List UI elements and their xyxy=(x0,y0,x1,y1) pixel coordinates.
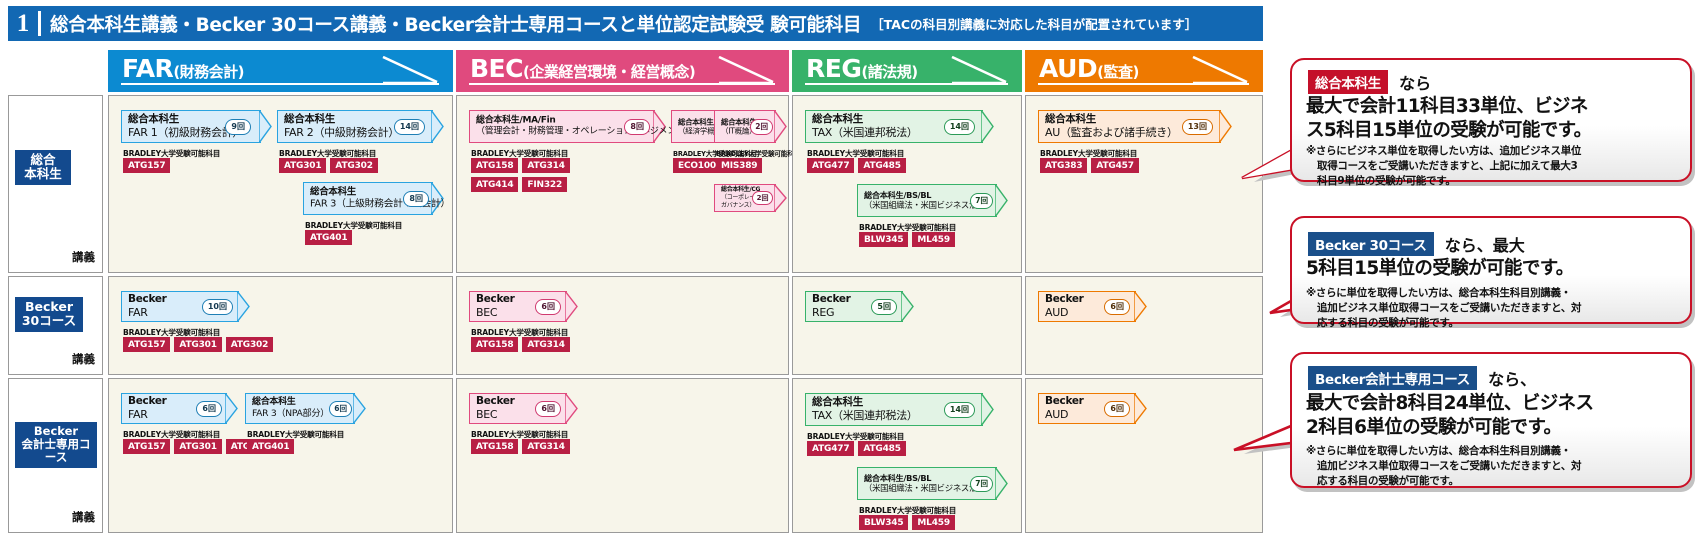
poster-root: 1 総合本科生講義・Becker 30コース講義・Becker会計士専用コースと… xyxy=(0,0,1707,539)
code-chip: BLW345 xyxy=(859,232,908,247)
code-chip: ATG301 xyxy=(279,158,326,173)
course-line1: 総合本科生/MA/Fin xyxy=(476,115,556,125)
course-r2-far[interactable]: BeckerFAR 10回 xyxy=(121,291,251,322)
course-count: 2回 xyxy=(752,191,773,205)
course-r2-bec[interactable]: BeckerBEC 6回 xyxy=(469,291,579,322)
course-line2: FAR 2（中級財務会計） xyxy=(284,126,399,139)
callout-main-line1: 最大で会計8科目24単位、ビジネス xyxy=(1306,392,1593,416)
callout-note-line3: 科目9単位の受験が可能です。 xyxy=(1306,174,1581,189)
col-sub-bec: (企業経営環境・経営概念) xyxy=(523,63,695,81)
course-count: 6回 xyxy=(1104,299,1130,315)
code-chip: FIN322 xyxy=(522,177,567,192)
code-chip: ATG383 xyxy=(1040,158,1087,173)
cell-r3-far: BeckerFAR 6回 BRADLEY大学受験可能科目 ATG157 ATG3… xyxy=(108,378,453,533)
course-count: 14回 xyxy=(944,402,975,418)
cell-r1-far: 総合本科生FAR 1（初級財務会計） 9回 BRADLEY大学受験可能科目 AT… xyxy=(108,95,453,273)
cell-r1-reg: 総合本科生TAX（米国連邦税法） 14回 BRADLEY大学受験可能科目 ATG… xyxy=(792,95,1022,273)
course-line1: Becker xyxy=(1045,292,1084,304)
course-line1: 総合本科生/BS/BL xyxy=(864,190,931,200)
callout-note-line1: ※さらに単位を取得したい方は、総合本科生科目別講義・ xyxy=(1306,444,1581,459)
course-r1-far-3[interactable]: 総合本科生FAR 3（上級財務会計＋公会計） 8回 xyxy=(303,182,445,215)
row-suffix-sogo: 講義 xyxy=(72,249,95,265)
col-sub-far: (財務会計) xyxy=(173,63,244,81)
code-chip: ATG302 xyxy=(330,158,377,173)
section-title-bar: 1 総合本科生講義・Becker 30コース講義・Becker会計士専用コースと… xyxy=(8,6,1263,41)
course-count: 8回 xyxy=(624,119,650,135)
column-header-far: FAR(財務会計) xyxy=(108,50,453,92)
course-line2: TAX（米国連邦税法） xyxy=(812,409,918,422)
code-chip: ATG401 xyxy=(305,230,352,245)
course-line2: TAX（米国連邦税法） xyxy=(812,126,918,139)
cell-r2-aud: BeckerAUD 6回 xyxy=(1025,276,1263,375)
callout-becker-cpa: Becker会計士専用コース なら、 最大で会計8科目24単位、ビジネス 2科目… xyxy=(1290,352,1692,488)
callout-main-line1: 5科目15単位の受験が可能です。 xyxy=(1306,257,1574,281)
decor-slash-icon xyxy=(950,56,1010,86)
course-line2: AUD xyxy=(1045,408,1068,421)
code-chip: ATG301 xyxy=(174,439,221,454)
course-line2: BEC xyxy=(476,306,497,319)
callout-head: Becker 30コース なら、最大 xyxy=(1308,232,1525,256)
course-line2: FAR xyxy=(128,306,148,319)
col-code-bec: BEC xyxy=(470,54,523,83)
course-line1: Becker xyxy=(128,394,167,406)
code-chip: ATG157 xyxy=(123,158,170,173)
callout-badge: Becker 30コース xyxy=(1308,232,1434,256)
cell-r3-aud: BeckerAUD 6回 xyxy=(1025,378,1263,533)
callout-nara: なら、 xyxy=(1488,370,1536,389)
row-badge-becker-cpa: Becker会計士専用コース xyxy=(15,422,97,468)
code-chip: ML459 xyxy=(912,515,954,530)
course-r1-bec-1[interactable]: 総合本科生/MA/Fin（管理会計・財務管理・オペレーションマネジメント） 8回 xyxy=(469,110,667,143)
course-count: 7回 xyxy=(970,476,993,492)
row-suffix-becker-cpa: 講義 xyxy=(72,509,95,525)
course-line1: Becker xyxy=(128,292,167,304)
course-line2: （管理会計・財務管理・オペレーションマネジメント） xyxy=(476,127,693,137)
col-code-reg: REG xyxy=(806,54,861,83)
course-line1: Becker xyxy=(812,292,851,304)
callout-main-line2: ス5科目15単位の受験が可能です。 xyxy=(1306,119,1592,143)
course-count: 14回 xyxy=(394,119,425,135)
row-label-becker30: Becker30コース 講義 xyxy=(8,276,103,375)
code-chip: ATG157 xyxy=(123,337,170,352)
course-r3-reg-2[interactable]: 総合本科生/BS/BL（米国組織法・米国ビジネス法） 7回 xyxy=(857,467,1009,500)
callout-becker30: Becker 30コース なら、最大 5科目15単位の受験が可能です。 ※さらに… xyxy=(1290,216,1692,324)
code-chip: ATG157 xyxy=(123,439,170,454)
course-line2: REG xyxy=(812,306,834,319)
course-r3-far-1[interactable]: BeckerFAR 6回 xyxy=(121,393,239,424)
decor-slash-icon xyxy=(1191,56,1251,86)
code-chip: ATG158 xyxy=(471,337,518,352)
course-line2: FAR 3（NPA部分） xyxy=(252,408,329,419)
row-label-becker-cpa: Becker会計士専用コース 講義 xyxy=(8,378,103,533)
course-line1: 総合本科生 xyxy=(284,112,335,124)
course-r3-far-2[interactable]: 総合本科生FAR 3（NPA部分） 6回 xyxy=(245,393,367,424)
code-chip: ECO100 xyxy=(673,158,721,173)
course-r3-aud[interactable]: BeckerAUD 6回 xyxy=(1038,393,1148,424)
course-r3-reg-1[interactable]: 総合本科生TAX（米国連邦税法） 14回 xyxy=(805,393,995,426)
course-r1-far-1[interactable]: 総合本科生FAR 1（初級財務会計） 9回 xyxy=(121,110,273,143)
bradley-caption: BRADLEY大学受験可能科目 xyxy=(716,148,800,158)
course-line2: AU（監査および諸手続き） xyxy=(1045,126,1178,139)
title-note: ［TACの科目別講義に対応した科目が配置されています］ xyxy=(871,14,1197,33)
callout-badge: Becker会計士専用コース xyxy=(1308,366,1477,390)
course-grid: FAR(財務会計) BEC(企業経営環境・経営概念) REG(諸法規) AUD(… xyxy=(8,50,1263,533)
decor-slash-icon xyxy=(381,56,441,86)
code-chip: ATG485 xyxy=(858,441,905,456)
cell-r1-bec: 総合本科生/MA/Fin（管理会計・財務管理・オペレーションマネジメント） 8回… xyxy=(456,95,789,273)
course-line2: BEC xyxy=(476,408,497,421)
course-r2-reg[interactable]: BeckerREG 5回 xyxy=(805,291,915,322)
course-count: 9回 xyxy=(225,119,251,135)
cell-r3-reg: 総合本科生TAX（米国連邦税法） 14回 BRADLEY大学受験可能科目 ATG… xyxy=(792,378,1022,533)
course-line1: Becker xyxy=(476,394,515,406)
col-code-aud: AUD xyxy=(1039,54,1097,83)
code-chip: ATG485 xyxy=(858,158,905,173)
cell-r2-reg: BeckerREG 5回 xyxy=(792,276,1022,375)
code-chip: ATG477 xyxy=(807,441,854,456)
course-count: 7回 xyxy=(970,193,993,209)
callout-head: 総合本科生 なら xyxy=(1308,70,1431,94)
code-chip: ATG314 xyxy=(522,158,569,173)
callout-nara: なら、最大 xyxy=(1445,236,1525,255)
course-count: 2回 xyxy=(750,119,773,135)
section-number: 1 xyxy=(8,6,38,41)
course-count: 6回 xyxy=(196,401,222,417)
course-line1: 総合本科生 xyxy=(252,396,296,406)
page-title: 総合本科生講義・Becker 30コース講義・Becker会計士専用コースと単位… xyxy=(50,11,861,37)
course-count: 13回 xyxy=(1182,119,1213,135)
cell-r3-bec: BeckerBEC 6回 BRADLEY大学受験可能科目 ATG158 ATG3… xyxy=(456,378,789,533)
row-badge-sogo: 総合本科生 xyxy=(15,150,71,185)
code-chip: ATG401 xyxy=(247,439,294,454)
callout-nara: なら xyxy=(1399,74,1431,93)
code-chip: ATG314 xyxy=(522,439,569,454)
course-r1-reg-2[interactable]: 総合本科生/BS/BL（米国組織法・米国ビジネス法） 7回 xyxy=(857,184,1009,217)
cell-r1-aud: 総合本科生AU（監査および諸手続き） 13回 BRADLEY大学受験可能科目 A… xyxy=(1025,95,1263,273)
callout-note-line3: 応する科目の受験が可能です。 xyxy=(1306,474,1581,489)
course-line2: （米国組織法・米国ビジネス法） xyxy=(864,483,985,493)
code-chip: ATG457 xyxy=(1091,158,1138,173)
callout-head: Becker会計士専用コース なら、 xyxy=(1308,366,1536,390)
course-r1-reg-1[interactable]: 総合本科生TAX（米国連邦税法） 14回 xyxy=(805,110,995,143)
course-line1: Becker xyxy=(476,292,515,304)
course-count: 14回 xyxy=(944,119,975,135)
course-line1: 総合本科生 xyxy=(128,112,179,124)
callout-sogo-honkasei: 総合本科生 なら 最大で会計11科目33単位、ビジネ ス5科目15単位の受験が可… xyxy=(1290,58,1692,182)
cell-r2-far: BeckerFAR 10回 BRADLEY大学受験可能科目 ATG157 ATG… xyxy=(108,276,453,375)
callout-note-line2: 取得コースをご受講いただきますと、上記に加えて最大3 xyxy=(1306,159,1581,174)
course-r3-bec[interactable]: BeckerBEC 6回 xyxy=(469,393,579,424)
row-suffix-becker30: 講義 xyxy=(72,351,95,367)
code-chip: ATG301 xyxy=(174,337,221,352)
callout-main-line1: 最大で会計11科目33単位、ビジネ xyxy=(1306,95,1592,119)
course-r1-bec-3[interactable]: 総合本科生/IT（IT概論） 2回 xyxy=(714,110,788,143)
course-r2-aud[interactable]: BeckerAUD 6回 xyxy=(1038,291,1148,322)
course-line2: （米国組織法・米国ビジネス法） xyxy=(864,200,985,210)
callout-main-line2: 2科目6単位の受験が可能です。 xyxy=(1306,416,1593,440)
cell-r2-bec: BeckerBEC 6回 BRADLEY大学受験可能科目 ATG158 ATG3… xyxy=(456,276,789,375)
col-code-far: FAR xyxy=(122,54,173,83)
course-r1-aud-1[interactable]: 総合本科生AU（監査および諸手続き） 13回 xyxy=(1038,110,1233,143)
code-chip: ATG414 xyxy=(471,177,518,192)
course-line1: 総合本科生/BS/BL xyxy=(864,473,931,483)
code-chip: ATG302 xyxy=(226,337,273,352)
column-header-reg: REG(諸法規) xyxy=(792,50,1022,92)
title-divider xyxy=(38,11,41,36)
col-sub-aud: (監査) xyxy=(1097,63,1139,81)
course-line1: 総合本科生 xyxy=(812,395,863,407)
course-line1: Becker xyxy=(1045,394,1084,406)
course-r1-bec-4[interactable]: 総合本科生/CG（コーポレート ガバナンス） 2回 xyxy=(714,184,788,212)
course-count: 8回 xyxy=(403,191,429,207)
callout-note-line3: 応する科目の受験が可能です。 xyxy=(1306,316,1581,331)
row-badge-becker30: Becker30コース xyxy=(15,297,83,332)
code-chip: ML459 xyxy=(912,232,954,247)
callout-note-line1: ※さらに単位を取得したい方は、総合本科生科目別講義・ xyxy=(1306,286,1581,301)
code-chip: ATG314 xyxy=(522,337,569,352)
column-header-bec: BEC(企業経営環境・経営概念) xyxy=(456,50,789,92)
row-label-sogo: 総合本科生 講義 xyxy=(8,95,103,273)
code-chip: ATG477 xyxy=(807,158,854,173)
course-count: 6回 xyxy=(535,299,561,315)
callout-note-line2: 追加ビジネス単位取得コースをご受講いただきますと、対 xyxy=(1306,301,1581,316)
callout-note-line1: ※さらにビジネス単位を取得したい方は、追加ビジネス単位 xyxy=(1306,144,1581,159)
course-line1: 総合本科生 xyxy=(812,112,863,124)
course-line2: FAR 3（上級財務会計＋公会計） xyxy=(310,198,450,209)
course-count: 10回 xyxy=(202,299,233,315)
col-sub-reg: (諸法規) xyxy=(861,63,917,81)
course-line1: 総合本科生 xyxy=(310,186,356,197)
code-chip: ATG158 xyxy=(471,158,518,173)
callout-badge: 総合本科生 xyxy=(1308,70,1388,94)
code-chip: ATG158 xyxy=(471,439,518,454)
course-line1: 総合本科生 xyxy=(1045,112,1096,124)
callout-note-line2: 追加ビジネス単位取得コースをご受講いただきますと、対 xyxy=(1306,459,1581,474)
course-count: 6回 xyxy=(1104,401,1130,417)
course-line2: AUD xyxy=(1045,306,1068,319)
course-count: 5回 xyxy=(871,299,897,315)
code-chip: MIS389 xyxy=(716,158,762,173)
course-r1-far-2[interactable]: 総合本科生FAR 2（中級財務会計） 14回 xyxy=(277,110,445,143)
decor-slash-icon xyxy=(717,56,777,86)
course-line2: FAR xyxy=(128,408,148,421)
code-chip: BLW345 xyxy=(859,515,908,530)
course-count: 6回 xyxy=(329,401,352,417)
course-count: 6回 xyxy=(535,401,561,417)
column-header-aud: AUD(監査) xyxy=(1025,50,1263,92)
